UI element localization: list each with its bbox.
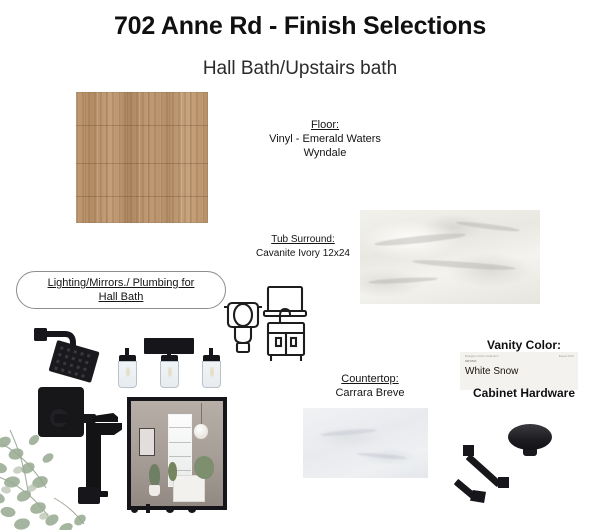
vanity-color-header: Vanity Color:	[450, 338, 598, 352]
cabinet-knob-image	[508, 424, 552, 468]
tub-surround-caption: Tub Surround: Cavanite Ivory 12x24	[243, 233, 363, 261]
accessory-dot	[131, 506, 138, 513]
paint-color-chip: Designer Color Collection Expert Pick SW…	[460, 352, 578, 390]
page-title: 702 Anne Rd - Finish Selections	[0, 12, 600, 41]
lighting-mirrors-plumbing-callout: Lighting/Mirrors./ Plumbing for Hall Bat…	[16, 271, 226, 309]
paint-chip-code: SW 9541	[465, 359, 573, 363]
floor-caption-line2: Wyndale	[240, 146, 410, 160]
fixture-clipart-group	[222, 283, 318, 369]
tub-surround-swatch	[360, 210, 540, 304]
accessory-dot	[188, 506, 196, 513]
page-subtitle: Hall Bath/Upstairs bath	[0, 58, 600, 80]
framed-mirror-image	[127, 397, 227, 510]
countertop-caption: Countertop: Carrara Breve	[310, 372, 430, 400]
floor-swatch	[76, 92, 208, 223]
floor-caption-line1: Vinyl - Emerald Waters	[240, 132, 410, 146]
shower-head-icon	[32, 324, 118, 388]
cabinet-hardware-header: Cabinet Hardware	[450, 386, 598, 400]
cabinet-bar-pull-short-image	[452, 474, 492, 508]
vanity-light-fixture-image	[116, 330, 224, 386]
finish-selections-board: 702 Anne Rd - Finish Selections Hall Bat…	[0, 0, 600, 530]
lighting-callout-line2: Hall Bath	[99, 291, 144, 303]
accessory-dot	[166, 506, 174, 513]
countertop-swatch	[303, 408, 428, 478]
paint-chip-collection-text: Designer Color Collection	[465, 355, 499, 358]
countertop-caption-header: Countertop:	[310, 372, 430, 386]
paint-chip-badge-text: Expert Pick	[559, 355, 574, 358]
floor-caption-header: Floor:	[240, 118, 410, 132]
eucalyptus-sprigs-icon	[0, 424, 114, 530]
accessory-dot	[146, 504, 150, 513]
lighting-callout-line1: Lighting/Mirrors./ Plumbing for	[48, 277, 195, 289]
tub-surround-caption-header: Tub Surround:	[243, 233, 363, 247]
floor-caption: Floor: Vinyl - Emerald Waters Wyndale	[240, 118, 410, 160]
tub-surround-caption-line1: Cavanite Ivory 12x24	[243, 247, 363, 261]
countertop-caption-line1: Carrara Breve	[310, 386, 430, 400]
paint-color-name: White Snow	[465, 366, 573, 377]
eucalyptus-greenery-decor	[0, 424, 114, 530]
lighting-callout-text: Lighting/Mirrors./ Plumbing for Hall Bat…	[48, 276, 195, 304]
toilet-and-vanity-line-icon	[222, 283, 318, 369]
